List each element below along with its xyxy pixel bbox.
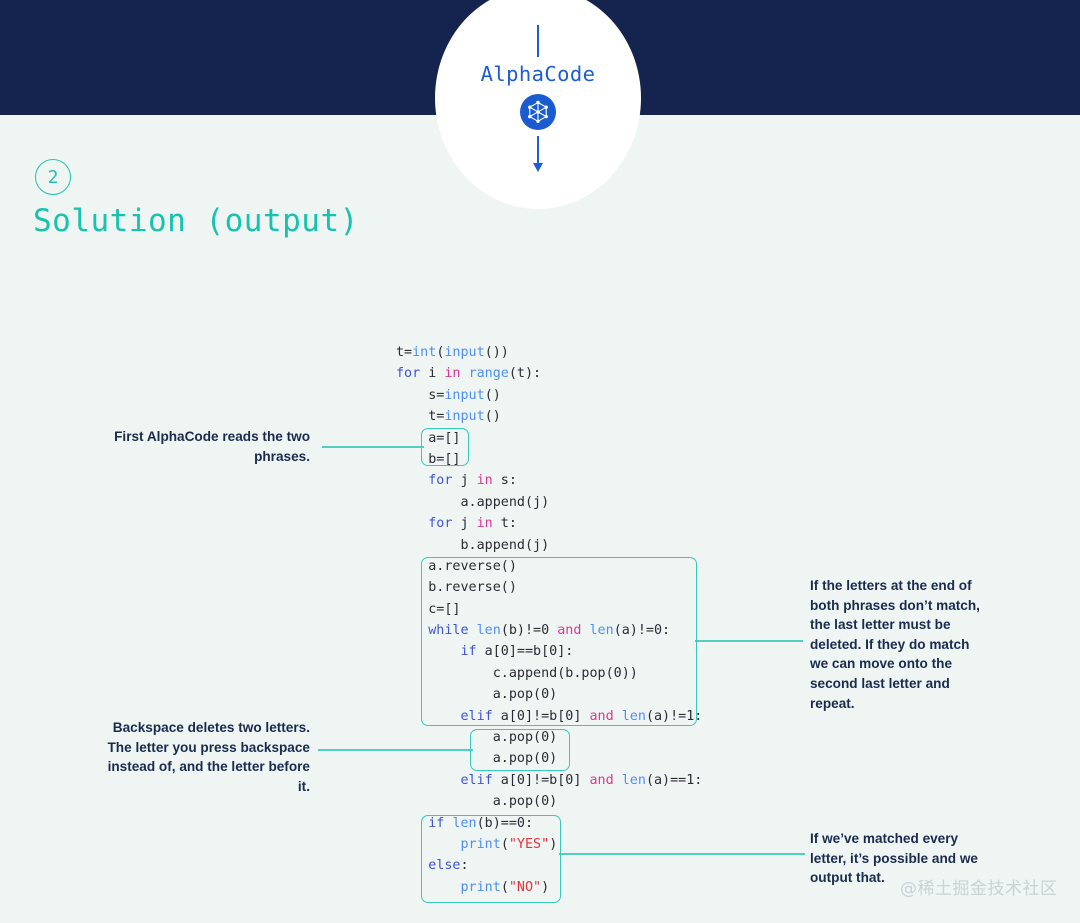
- connector-line-compare: [695, 640, 803, 642]
- code-line: s=input(): [396, 385, 702, 406]
- alphacode-wordmark: AlphaCode: [481, 64, 596, 85]
- watermark: @稀土掘金技术社区: [900, 874, 1058, 899]
- code-line: b.append(j): [396, 535, 702, 556]
- highlight-box-output-result: [421, 815, 561, 903]
- down-arrow-icon: [533, 136, 543, 172]
- code-line: t=input(): [396, 406, 702, 427]
- alphacode-hexagon-node-icon: [520, 94, 556, 130]
- highlight-box-compare-loop: [421, 557, 697, 726]
- slide-canvas: AlphaCode: [0, 0, 1080, 923]
- code-line: a.pop(0): [396, 791, 702, 812]
- highlight-box-read-inputs: [421, 428, 469, 466]
- annotation-compare-loop: If the letters at the end of both phrase…: [810, 576, 986, 713]
- alphacode-logo-bubble: AlphaCode: [435, 0, 641, 209]
- highlight-box-backspace-pops: [470, 729, 570, 771]
- page-title: Solution (output): [33, 203, 359, 239]
- code-line: t=int(input()): [396, 342, 702, 363]
- code-line: for j in s:: [396, 470, 702, 491]
- annotation-read-inputs: First AlphaCode reads the two phrases.: [110, 427, 310, 466]
- code-line: for j in t:: [396, 513, 702, 534]
- step-number-badge: 2: [35, 159, 71, 195]
- code-line: elif a[0]!=b[0] and len(a)==1:: [396, 770, 702, 791]
- annotation-backspace: Backspace deletes two letters. The lette…: [100, 718, 310, 796]
- code-line: for i in range(t):: [396, 363, 702, 384]
- vertical-line-icon: [537, 25, 539, 57]
- code-line: a.append(j): [396, 492, 702, 513]
